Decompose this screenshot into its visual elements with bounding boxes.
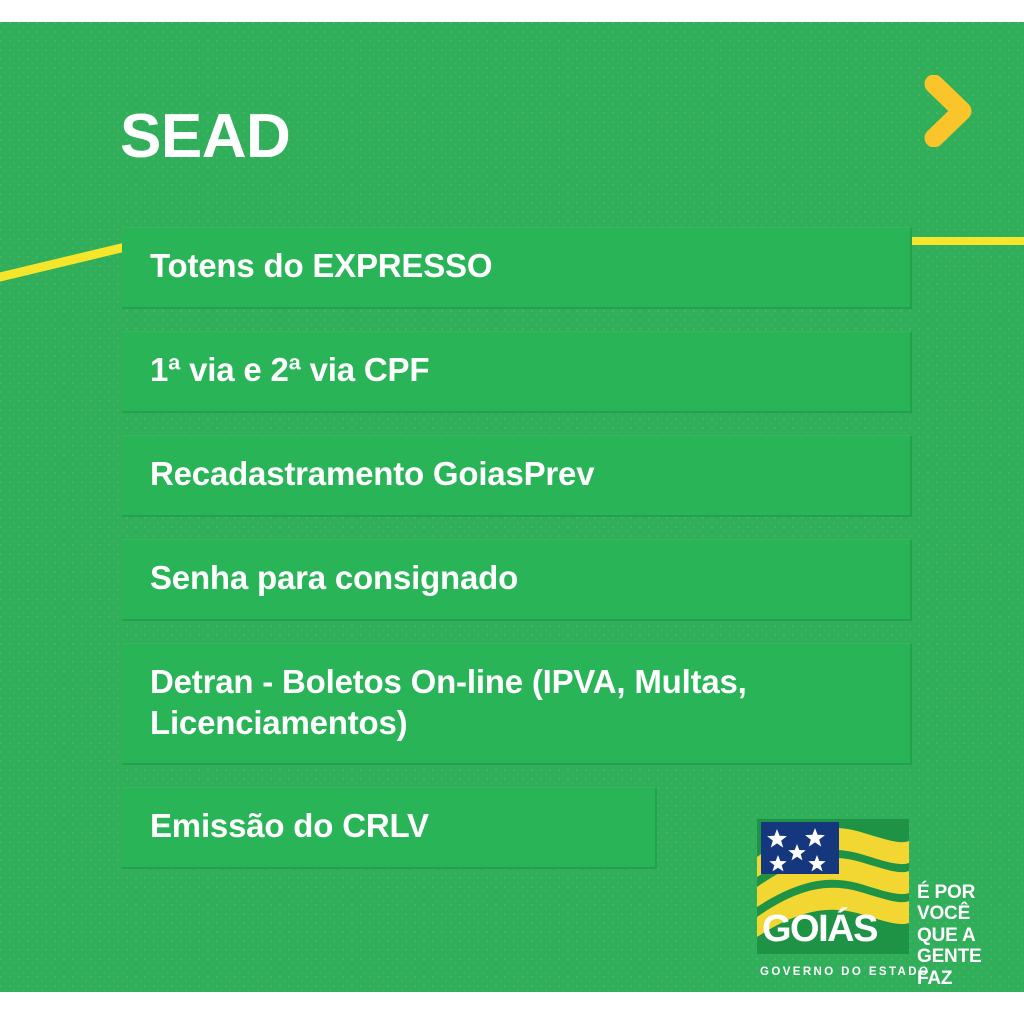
goias-tagline-line: FAZ bbox=[917, 968, 981, 989]
yellow-accent-line-right bbox=[900, 237, 1024, 245]
yellow-accent-line-left bbox=[0, 240, 139, 283]
goias-tagline: É POR VOCÊ QUE A GENTE FAZ bbox=[917, 882, 981, 989]
service-card-label: Recadastramento GoiasPrev bbox=[150, 454, 594, 495]
service-card-label: Detran - Boletos On-line (IPVA, Multas, … bbox=[150, 662, 884, 744]
goias-wordmark: GOIÁS bbox=[762, 910, 877, 948]
service-card-cpf[interactable]: 1ª via e 2ª via CPF bbox=[122, 331, 912, 413]
chevron-right-icon[interactable] bbox=[924, 75, 972, 147]
service-card-crlv[interactable]: Emissão do CRLV bbox=[122, 787, 657, 869]
goias-tagline-line: GENTE bbox=[917, 946, 981, 967]
service-list: Totens do EXPRESSO 1ª via e 2ª via CPF R… bbox=[122, 227, 912, 891]
service-card-totens[interactable]: Totens do EXPRESSO bbox=[122, 227, 912, 309]
goias-logo: GOIÁS GOVERNO DO ESTADO É POR VOCÊ QUE A… bbox=[757, 819, 929, 992]
goias-subtitle: GOVERNO DO ESTADO bbox=[760, 967, 930, 979]
green-canvas: SEAD Totens do EXPRESSO 1ª via e 2ª via … bbox=[0, 22, 1024, 992]
service-card-label: 1ª via e 2ª via CPF bbox=[150, 350, 429, 391]
service-card-label: Emissão do CRLV bbox=[150, 806, 429, 847]
goias-tagline-line: É POR bbox=[917, 882, 981, 903]
service-card-goiasprev[interactable]: Recadastramento GoiasPrev bbox=[122, 435, 912, 517]
goias-tagline-line: QUE A bbox=[917, 925, 981, 946]
goias-tagline-line: VOCÊ bbox=[917, 903, 981, 924]
poster-root: SEAD Totens do EXPRESSO 1ª via e 2ª via … bbox=[0, 0, 1024, 1024]
page-title: SEAD bbox=[120, 106, 290, 168]
service-card-detran[interactable]: Detran - Boletos On-line (IPVA, Multas, … bbox=[122, 643, 912, 766]
service-card-label: Totens do EXPRESSO bbox=[150, 246, 492, 287]
service-card-label: Senha para consignado bbox=[150, 558, 518, 599]
service-card-consignado[interactable]: Senha para consignado bbox=[122, 539, 912, 621]
